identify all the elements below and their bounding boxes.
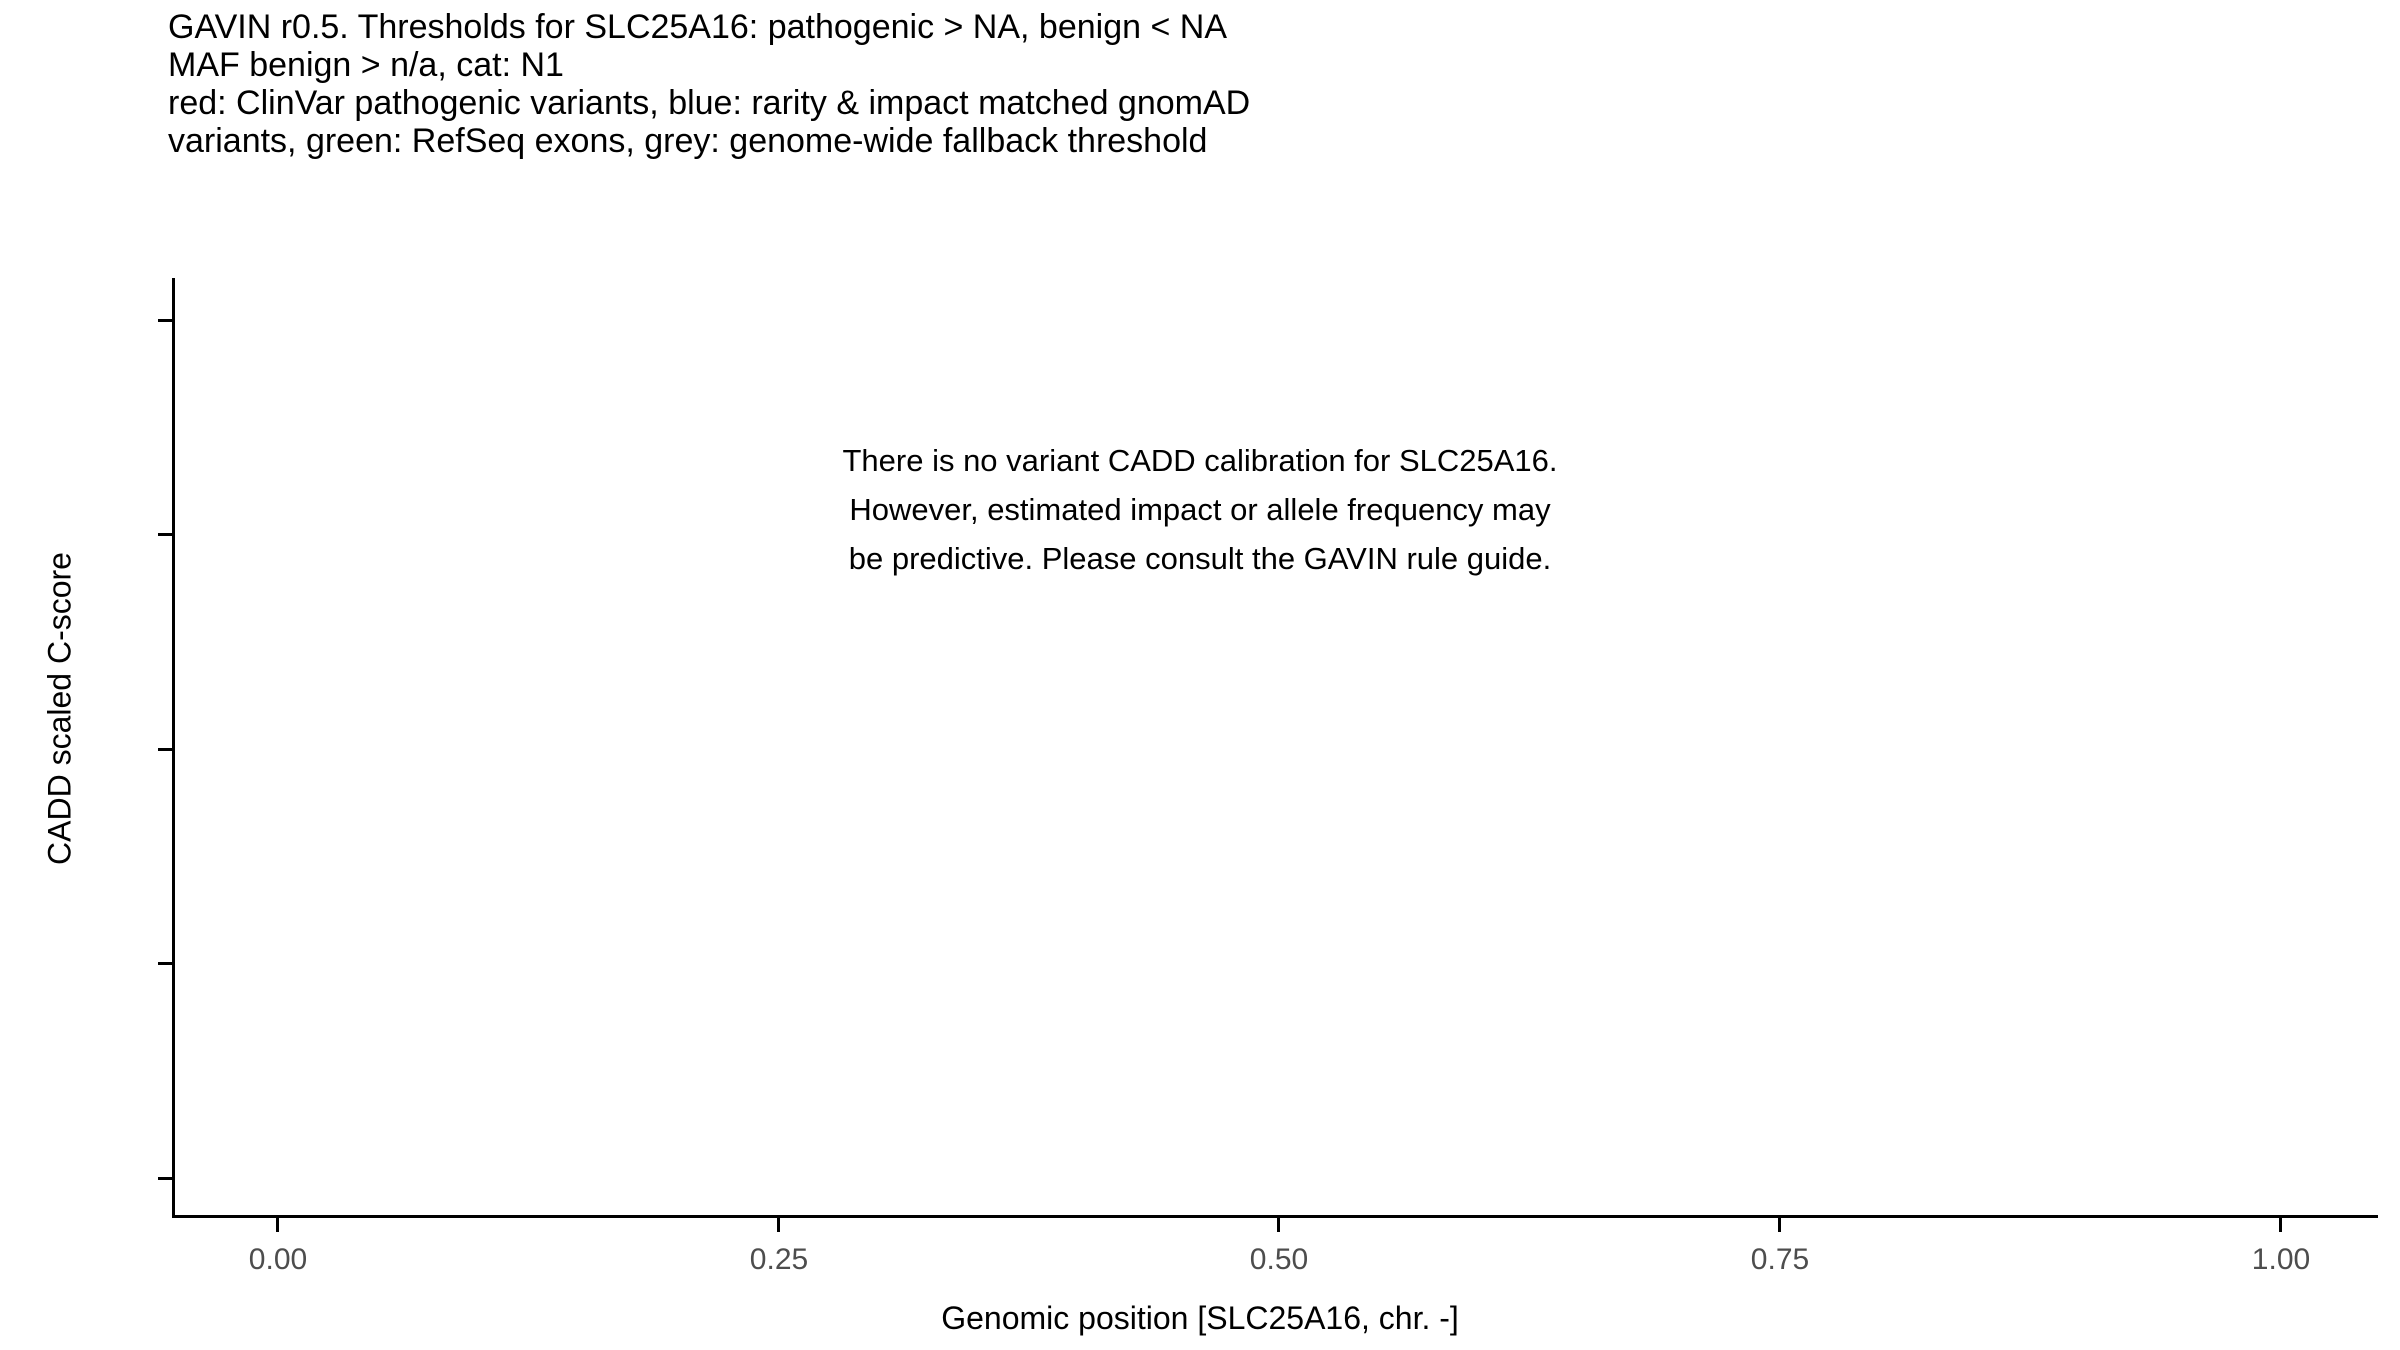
y-tick-mark-0.50	[158, 748, 172, 751]
x-tick-label-0.75: 0.75	[1680, 1243, 1880, 1277]
x-tick-mark-0.25	[777, 1218, 780, 1232]
annotation-line-2: However, estimated impact or allele freq…	[500, 485, 1900, 534]
x-tick-mark-0.75	[1778, 1218, 1781, 1232]
y-axis-title: CADD scaled C-score	[42, 359, 79, 1059]
annotation-line-3: be predictive. Please consult the GAVIN …	[500, 534, 1900, 583]
x-tick-mark-0.50	[1277, 1218, 1280, 1232]
x-axis-line	[172, 1215, 2378, 1218]
x-axis-title: Genomic position [SLC25A16, chr. -]	[0, 1300, 2400, 1337]
plot-root: GAVIN r0.5. Thresholds for SLC25A16: pat…	[0, 0, 2400, 1350]
x-tick-mark-1.00	[2279, 1218, 2282, 1232]
plot-title-line-3: red: ClinVar pathogenic variants, blue: …	[168, 84, 2368, 122]
y-tick-mark-1.00	[158, 319, 172, 322]
x-tick-mark-0.00	[276, 1218, 279, 1232]
y-tick-mark-0.75	[158, 533, 172, 536]
x-tick-label-1.00: 1.00	[2181, 1243, 2381, 1277]
x-tick-label-0.50: 0.50	[1179, 1243, 1379, 1277]
plot-title: GAVIN r0.5. Thresholds for SLC25A16: pat…	[168, 8, 2368, 160]
plot-title-line-4: variants, green: RefSeq exons, grey: gen…	[168, 122, 2368, 160]
no-calibration-annotation: There is no variant CADD calibration for…	[500, 436, 1900, 583]
plot-title-line-1: GAVIN r0.5. Thresholds for SLC25A16: pat…	[168, 8, 2368, 46]
plot-title-line-2: MAF benign > n/a, cat: N1	[168, 46, 2368, 84]
x-tick-label-0.25: 0.25	[679, 1243, 879, 1277]
y-axis-line	[172, 278, 175, 1218]
x-tick-label-0.00: 0.00	[178, 1243, 378, 1277]
annotation-line-1: There is no variant CADD calibration for…	[500, 436, 1900, 485]
plot-panel	[172, 278, 2378, 1215]
y-tick-mark-0.00	[158, 1177, 172, 1180]
y-tick-mark-0.25	[158, 962, 172, 965]
